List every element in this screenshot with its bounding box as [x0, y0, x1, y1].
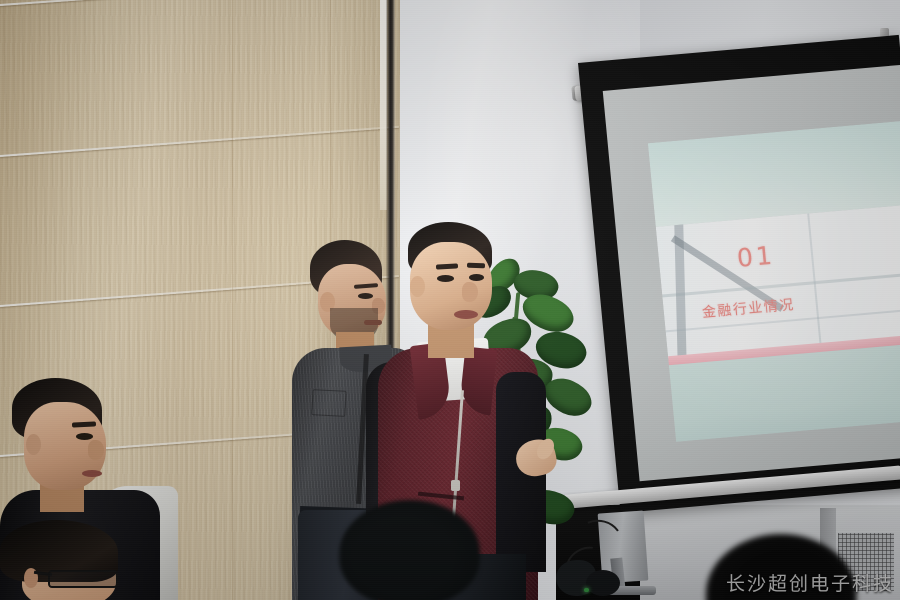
eye	[358, 293, 373, 299]
photo-strut	[662, 268, 900, 297]
projector-screen[interactable]: 01 金融行业情况 业务 Co	[578, 35, 900, 513]
panel-seam-vertical	[232, 0, 233, 600]
screen-surface: 01 金融行业情况 业务 Co	[603, 64, 900, 481]
status-led	[584, 588, 589, 592]
slide-photo-band	[656, 201, 900, 359]
nose	[462, 282, 478, 302]
slide-section-number: 01	[736, 241, 776, 273]
desk-equipment	[586, 570, 620, 596]
shirt-pocket	[311, 389, 346, 417]
ear	[26, 434, 41, 455]
photo-strut	[807, 213, 821, 345]
watermark-text: 长沙超创电子科技	[726, 569, 894, 596]
eyebrow	[467, 263, 485, 269]
eye	[469, 274, 484, 281]
eye	[437, 275, 454, 282]
nose	[88, 440, 104, 460]
projected-slide: 01 金融行业情况 业务 Co	[648, 117, 900, 442]
attendee-with-glasses	[0, 520, 140, 600]
mouth	[82, 470, 102, 477]
eye	[76, 433, 93, 440]
zipper-pull	[451, 480, 460, 491]
photo-canvas: 01 金融行业情况 业务 Co	[0, 0, 900, 600]
mouth	[454, 310, 478, 319]
eyeglasses	[48, 570, 118, 588]
ear	[410, 276, 425, 297]
